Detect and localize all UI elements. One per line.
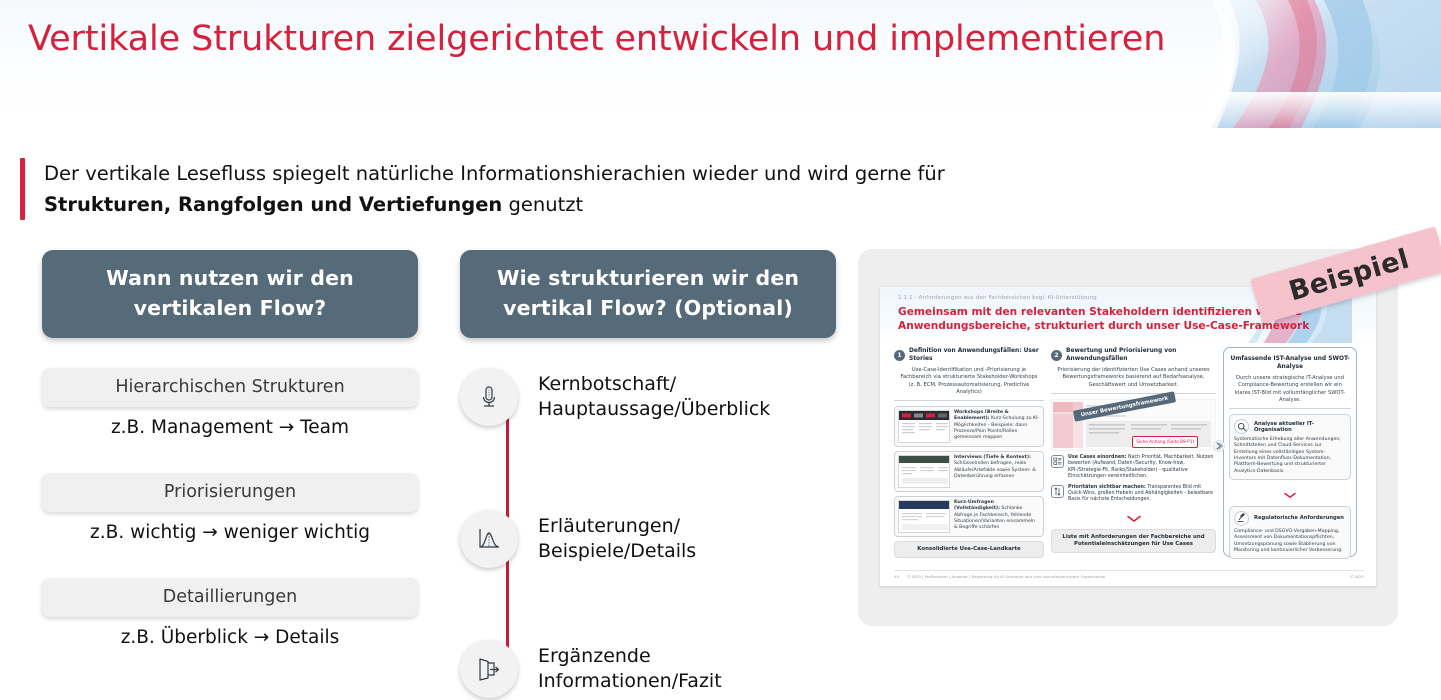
slide-bullet: Use Cases einordnen: Nach Priorität, Mac…	[1051, 455, 1216, 481]
slide-title-line-2: Anwendungsbereiche, strukturiert durch u…	[898, 320, 1309, 332]
slide-column-1-subtitle: Use-Case-Identifikation und -Priorisieru…	[894, 363, 1044, 401]
gavel-icon	[1234, 511, 1249, 526]
mid-column-heading: Wie strukturieren wir den vertikal Flow?…	[460, 250, 836, 338]
bell-curve-chart-icon	[460, 510, 518, 568]
magnifier-icon	[1234, 419, 1249, 434]
step-number-badge: 2	[1051, 350, 1062, 361]
chevron-down-icon	[1229, 484, 1351, 503]
slide-column-2-header: 2 Bewertung und Priorisierung von Anwend…	[1051, 347, 1216, 363]
flow-step-label: Erläuterungen/ Beispiele/Details	[538, 514, 696, 564]
bullet-text: Use Cases einordnen: Nach Priorität, Mac…	[1068, 455, 1216, 481]
slide-box-body: Systematische Erhebung aller Anwendungen…	[1234, 437, 1346, 475]
left-chip-example: z.B. wichtig → weniger wichtig	[42, 512, 418, 543]
slide-page-number: 45	[894, 574, 899, 579]
bullet-title: Use Cases einordnen:	[1068, 455, 1126, 460]
flow-step: Ergänzende Informationen/Fazit	[460, 640, 722, 698]
left-heading-line-2: vertikalen Flow?	[134, 296, 327, 320]
slide-column-1-footer-chip: Konsolidierte Use-Case-Landkarte	[894, 541, 1044, 558]
left-chip[interactable]: Detaillierungen	[42, 578, 418, 617]
intro-line-2-bold: Strukturen, Rangfolgen und Vertiefungen	[44, 193, 502, 216]
left-column: Wann nutzen wir den vertikalen Flow? Hie…	[42, 250, 418, 648]
slide-columns: 1 Definition von Anwendungsfällen: User …	[894, 347, 1362, 557]
vertical-flow: Kernbotschaft/ Hauptaussage/Überblick Er…	[460, 360, 840, 700]
bullet-title: Prioritäten sichtbar machen:	[1068, 485, 1146, 490]
microphone-icon	[460, 368, 518, 426]
card-thumbnail	[898, 455, 950, 488]
page-title: Vertikale Strukturen zielgerichtet entwi…	[28, 16, 1165, 62]
slide-card: Workshops (Breite & Enablement): Kurz-Sc…	[894, 406, 1044, 447]
flow-step-label: Kernbotschaft/ Hauptaussage/Überblick	[538, 372, 770, 422]
chevron-down-icon	[1051, 508, 1216, 527]
slide-column-1-heading: Definition von Anwendungsfällen: User St…	[909, 347, 1044, 363]
intro-block: Der vertikale Lesefluss spiegelt natürli…	[20, 158, 1250, 220]
slide-footer-left: © BDO | ProPotsdam | Angebot | Begleitun…	[907, 574, 1105, 579]
intro-accent-bar	[20, 158, 25, 220]
card-title: Kurz-Umfragen (Vollständigkeit):	[954, 500, 1000, 511]
flow-label-line-1: Erläuterungen/	[538, 515, 680, 537]
card-body: Schlüsselrollen befragen, reale Abläufe/…	[954, 461, 1036, 479]
list-priority-icon	[1051, 455, 1064, 468]
slide-box-header: Regulatorische Anforderungen	[1234, 511, 1346, 526]
flow-step: Kernbotschaft/ Hauptaussage/Überblick	[460, 368, 770, 426]
card-thumbnail	[898, 410, 950, 443]
left-item-group: Detaillierungen z.B. Überblick → Details	[42, 578, 418, 648]
mid-heading-line-2: vertikal Flow? (Optional)	[503, 296, 793, 320]
exit-door-arrow-icon	[460, 640, 518, 698]
left-item-group: Priorisierungen z.B. wichtig → weniger w…	[42, 473, 418, 543]
mid-column: Wie strukturieren wir den vertikal Flow?…	[460, 250, 840, 700]
flow-label-line-2: Informationen/Fazit	[538, 670, 722, 692]
slide-column-2-footer-chip: Liste mit Anforderungen der Fachbereiche…	[1051, 529, 1216, 553]
card-text: Workshops (Breite & Enablement): Kurz-Sc…	[954, 410, 1040, 443]
slide-box: Regulatorische Anforderungen Compliance-…	[1229, 506, 1351, 559]
slide-eyebrow: 1.1.1 - Anforderungen aus den Fachbereic…	[898, 295, 1097, 301]
bullet-text: Prioritäten sichtbar machen: Transparent…	[1068, 485, 1216, 504]
step-number-badge: 1	[894, 350, 905, 361]
column-connector-icon	[1213, 437, 1225, 449]
left-item-group: Hierarchischen Strukturen z.B. Managemen…	[42, 368, 418, 438]
left-chip-example: z.B. Management → Team	[42, 407, 418, 438]
example-slide-thumbnail[interactable]: 1.1.1 - Anforderungen aus den Fachbereic…	[880, 287, 1376, 586]
left-heading-line-1: Wann nutzen wir den	[106, 266, 354, 290]
flow-label-line-2: Beispiele/Details	[538, 540, 696, 562]
slide-bullet: Prioritäten sichtbar machen: Transparent…	[1051, 485, 1216, 504]
page-header: Vertikale Strukturen zielgerichtet entwi…	[0, 0, 1441, 128]
left-column-heading: Wann nutzen wir den vertikalen Flow?	[42, 250, 418, 338]
slide-column-3-subtitle: Durch unsere strategische IT-Analyse und…	[1229, 371, 1351, 409]
slide-column-2-subtitle: Priorisierung der identifizierten Use Ca…	[1051, 363, 1216, 394]
left-chip-example: z.B. Überblick → Details	[42, 617, 418, 648]
card-thumbnail	[898, 500, 950, 533]
slide-column-3-heading: Umfassende IST-Analyse und SWOT-Analyse	[1229, 353, 1351, 371]
mid-heading-line-1: Wie strukturieren wir den	[497, 266, 799, 290]
flow-step: Erläuterungen/ Beispiele/Details	[460, 510, 696, 568]
card-text: Interviews (Tiefe & Kontext): Schlüsselr…	[954, 455, 1040, 488]
intro-line-2-rest: genutzt	[502, 193, 583, 216]
slide-card: Kurz-Umfragen (Vollständigkeit): Schlank…	[894, 496, 1044, 537]
slide-box-title: Analyse aktueller IT-Organisation	[1254, 421, 1346, 433]
slide-column-1-header: 1 Definition von Anwendungsfällen: User …	[894, 347, 1044, 363]
flow-label-line-1: Ergänzende	[538, 645, 651, 667]
sort-arrows-icon	[1051, 485, 1064, 498]
slide-column-2-heading: Bewertung und Priorisierung von Anwendun…	[1066, 347, 1216, 363]
slide-title-line-1: Gemeinsam mit den relevanten Stakeholder…	[898, 306, 1302, 318]
intro-text: Der vertikale Lesefluss spiegelt natürli…	[44, 158, 945, 220]
flow-label-line-1: Kernbotschaft/	[538, 373, 676, 395]
slide-card: Interviews (Tiefe & Kontext): Schlüsselr…	[894, 451, 1044, 492]
intro-line-1: Der vertikale Lesefluss spiegelt natürli…	[44, 162, 945, 185]
slide-footer-right: © BDO	[1350, 574, 1364, 579]
slide-box-header: Analyse aktueller IT-Organisation	[1234, 419, 1346, 434]
slide-box: Analyse aktueller IT-Organisation System…	[1229, 414, 1351, 480]
slide-box-title: Regulatorische Anforderungen	[1254, 515, 1344, 521]
left-chip[interactable]: Priorisierungen	[42, 473, 418, 512]
card-title: Interviews (Tiefe & Kontext):	[954, 455, 1031, 460]
slide-column-1: 1 Definition von Anwendungsfällen: User …	[894, 347, 1044, 557]
framework-thumb-note: Siehe Anhang (Seite B9-P1)	[1132, 436, 1198, 447]
slide-column-3: Umfassende IST-Analyse und SWOT-Analyse …	[1223, 347, 1357, 557]
left-chip[interactable]: Hierarchischen Strukturen	[42, 368, 418, 407]
slide-footer: 45 © BDO | ProPotsdam | Angebot | Beglei…	[894, 570, 1364, 579]
card-text: Kurz-Umfragen (Vollständigkeit): Schlank…	[954, 500, 1040, 533]
slide-box-body: Compliance- und DSGVO-Vorgaben-Mapping, …	[1234, 529, 1346, 554]
slide-column-2: 2 Bewertung und Priorisierung von Anwend…	[1051, 347, 1216, 557]
flow-step-label: Ergänzende Informationen/Fazit	[538, 644, 722, 694]
flow-label-line-2: Hauptaussage/Überblick	[538, 398, 770, 420]
framework-thumbnail-block: Unser Bewertungsframework Siehe Anhang (…	[1051, 399, 1216, 451]
